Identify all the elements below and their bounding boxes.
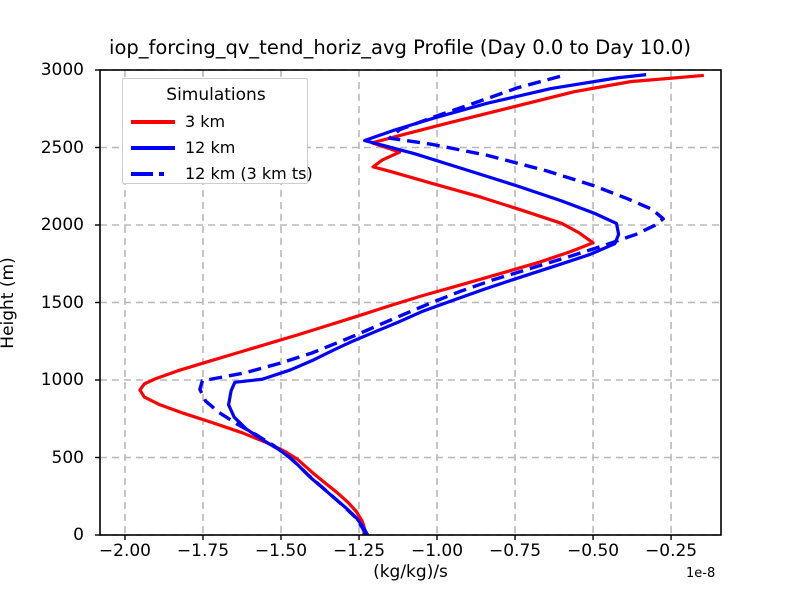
legend-label-1: 12 km	[185, 138, 235, 157]
legend-item-1[interactable]: 12 km	[131, 137, 309, 159]
legend-swatch-0	[131, 120, 175, 124]
x-tick-label: −0.75	[489, 541, 541, 561]
y-tick-label: 500	[0, 448, 92, 468]
x-tick-label: −0.50	[567, 541, 619, 561]
x-tick-label: −2.00	[99, 541, 151, 561]
legend-label-2: 12 km (3 km ts)	[185, 164, 313, 183]
y-tick-label: 2000	[0, 215, 92, 235]
x-tick-label: −1.25	[333, 541, 385, 561]
x-tick-label: −1.75	[177, 541, 229, 561]
y-tick-label: 0	[0, 525, 92, 545]
x-tick-label: −1.00	[411, 541, 463, 561]
legend-label-0: 3 km	[185, 112, 225, 131]
x-tick-label: −1.50	[255, 541, 307, 561]
plot-area	[0, 0, 800, 600]
legend-swatch-2	[131, 172, 175, 176]
y-tick-label: 2500	[0, 138, 92, 158]
legend-swatch-1	[131, 146, 175, 150]
legend-title: Simulations	[123, 85, 309, 105]
legend-item-2[interactable]: 12 km (3 km ts)	[131, 163, 309, 185]
legend[interactable]: Simulations 3 km12 km12 km (3 km ts)	[122, 78, 308, 184]
legend-item-0[interactable]: 3 km	[131, 111, 309, 133]
figure-canvas: iop_forcing_qv_tend_horiz_avg Profile (D…	[0, 0, 800, 600]
y-tick-label: 1500	[0, 293, 92, 313]
y-tick-label: 1000	[0, 370, 92, 390]
x-tick-label: −0.25	[645, 541, 697, 561]
y-tick-label: 3000	[0, 60, 92, 80]
